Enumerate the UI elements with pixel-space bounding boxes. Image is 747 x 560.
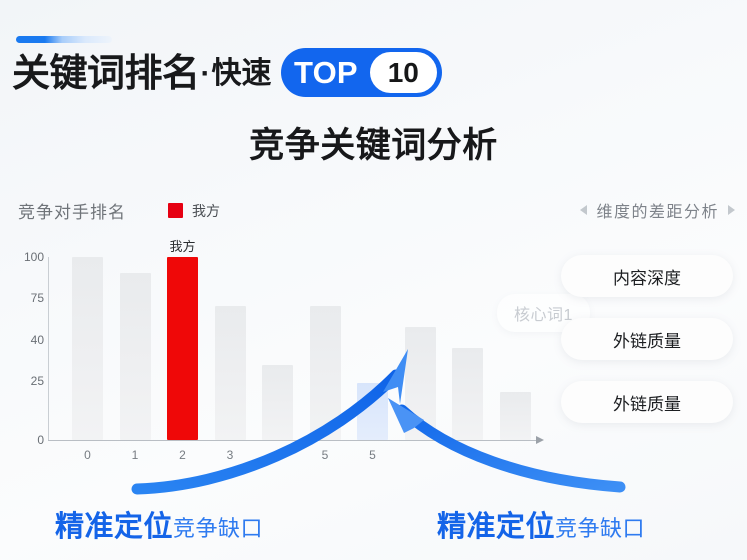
x-axis-tick-label: 2 [179, 448, 186, 462]
dimension-gap-header: 维度的差距分析 [580, 198, 735, 222]
y-axis-tick-label: 0 [10, 433, 44, 447]
y-axis-line [48, 257, 49, 440]
x-axis-tick-label: 5 [369, 448, 376, 462]
caption-right-weak: 竞争缺口 [555, 511, 645, 543]
dimension-pill-label: 内容深度 [613, 264, 681, 289]
x-axis-tick-label: 3 [227, 448, 234, 462]
bar-chart: 1007540250 我方0123455 [0, 240, 560, 480]
headline-main-text: 关键词排名 [12, 55, 200, 93]
bar-competitor [405, 327, 436, 440]
bar-highlight-mine [167, 257, 198, 440]
y-axis-tick-label: 40 [10, 333, 44, 347]
caption-right-strong: 精准定位 [437, 503, 555, 545]
accent-bar [16, 36, 112, 43]
dimension-pill-label: 外链质量 [613, 390, 681, 415]
dimension-gap-label: 维度的差距分析 [596, 198, 719, 222]
y-axis-tick-label: 25 [10, 374, 44, 388]
top-badge-number: 10 [388, 59, 419, 87]
headline-separator: · [200, 59, 212, 89]
dimension-pill-label: 外链质量 [613, 327, 681, 352]
headline-sub-text: 快速 [212, 59, 272, 89]
bar-competitor [310, 306, 341, 440]
legend-swatch-icon [168, 203, 183, 218]
chart-legend: 竞争对手排名 我方 [18, 198, 220, 223]
bar-competitor [452, 348, 483, 440]
top-badge-label: TOP [294, 57, 358, 88]
caption-left: 精准定位 竞争缺口 [55, 503, 263, 545]
legend-key-label: 我方 [192, 201, 220, 221]
y-axis-tick-label: 75 [10, 291, 44, 305]
caption-left-weak: 竞争缺口 [173, 511, 263, 543]
bar-competitor [72, 257, 103, 440]
x-axis-line [48, 440, 538, 441]
screenshot-stage: 关键词排名 · 快速 TOP 10 竞争关键词分析 竞争对手排名 我方 维度的差… [0, 0, 747, 560]
bar-highlight-label: 我方 [169, 236, 195, 255]
x-axis-tick-label: 5 [322, 448, 329, 462]
caption-left-strong: 精准定位 [55, 503, 173, 545]
top-rank-badge[interactable]: TOP 10 [281, 48, 442, 97]
headline: 关键词排名 · 快速 [12, 47, 272, 101]
bar-competitor [215, 306, 246, 440]
dimension-pill-list: 内容深度外链质量外链质量 [561, 255, 733, 423]
x-axis-tick-label: 0 [84, 448, 91, 462]
x-axis-tick-label: 1 [132, 448, 139, 462]
dimension-pill[interactable]: 内容深度 [561, 255, 733, 297]
caption-right: 精准定位 竞争缺口 [437, 503, 645, 545]
chevron-right-icon[interactable] [728, 205, 735, 215]
legend-key-mine: 我方 [168, 201, 220, 221]
top-badge-number-pill: 10 [370, 52, 437, 93]
x-axis-arrow-icon [536, 436, 544, 444]
dimension-pill[interactable]: 外链质量 [561, 381, 733, 423]
chart-plot-area: 我方0123455 [48, 240, 528, 440]
bar-competitor [357, 383, 388, 440]
x-axis-tick-label: 4 [274, 448, 281, 462]
dimension-pill[interactable]: 外链质量 [561, 318, 733, 360]
chart-legend-title: 竞争对手排名 [18, 198, 126, 223]
bar-competitor [120, 273, 151, 440]
page-title: 竞争关键词分析 [0, 117, 747, 168]
bar-competitor [262, 365, 293, 440]
bar-competitor [500, 392, 531, 440]
y-axis: 1007540250 [4, 240, 44, 440]
chevron-left-icon[interactable] [580, 205, 587, 215]
y-axis-tick-label: 100 [10, 250, 44, 264]
